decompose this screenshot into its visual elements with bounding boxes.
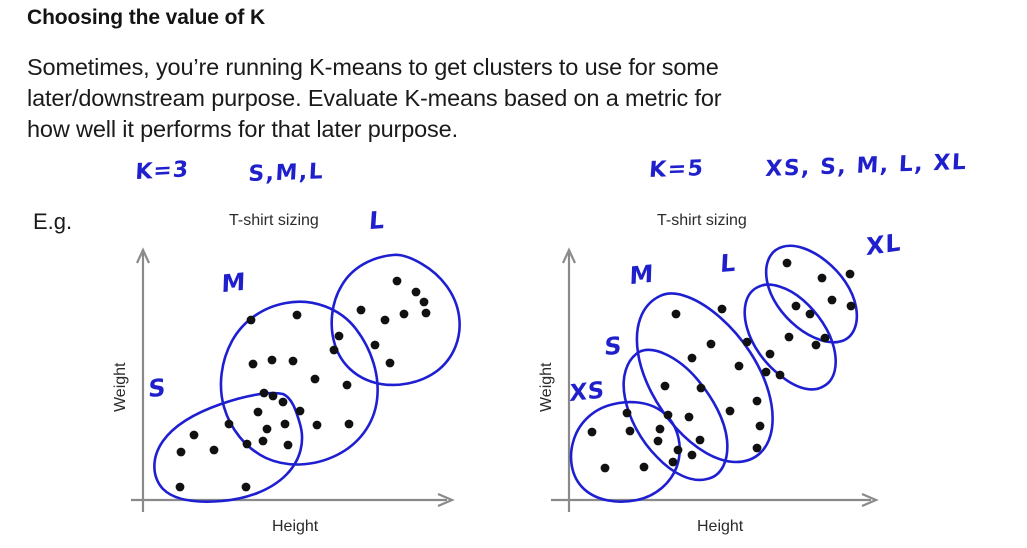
- slide: Choosing the value of K Sometimes, you’r…: [0, 0, 1027, 548]
- right-chart-canvas: [0, 0, 1027, 548]
- right-cluster-outlines: [571, 246, 857, 502]
- right-cluster-label-M: M: [629, 260, 654, 291]
- right-cluster-label-S: S: [604, 331, 623, 361]
- right-cluster-label-XL: XL: [866, 228, 901, 261]
- right-cluster-label-XS: XS: [569, 377, 605, 407]
- right-cluster-outline-XL: [766, 246, 857, 342]
- right-cluster-label-L: L: [720, 249, 737, 279]
